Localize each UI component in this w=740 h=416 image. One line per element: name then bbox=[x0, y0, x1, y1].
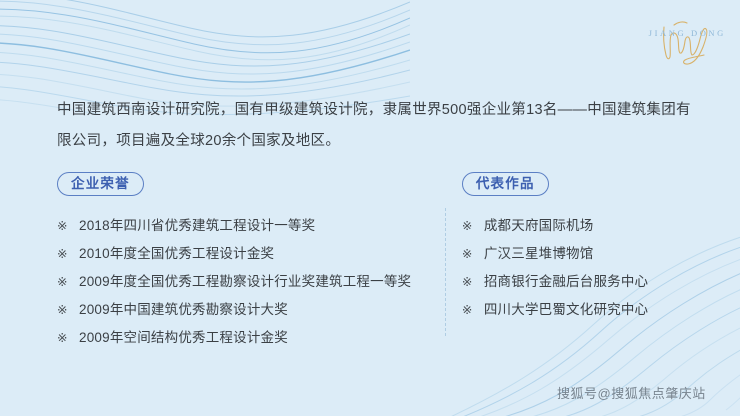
bullet-icon: ※ bbox=[57, 324, 79, 352]
bullet-icon: ※ bbox=[462, 212, 484, 240]
list-item-label: 广汉三星堆博物馆 bbox=[484, 240, 594, 268]
bullet-icon: ※ bbox=[462, 240, 484, 268]
list-item-label: 四川大学巴蜀文化研究中心 bbox=[484, 296, 648, 324]
list-item-label: 2010年度全国优秀工程设计金奖 bbox=[79, 240, 274, 268]
list-item-label: 招商银行金融后台服务中心 bbox=[484, 268, 648, 296]
slide-canvas: JIANG DONG 中国建筑西南设计研究院，国有甲级建筑设计院，隶属世界500… bbox=[0, 0, 740, 416]
list-item: ※ 2009年空间结构优秀工程设计金奖 bbox=[57, 324, 424, 352]
logo-script-monogram bbox=[654, 17, 720, 65]
list-item: ※ 2009年度全国优秀工程勘察设计行业奖建筑工程一等奖 bbox=[57, 268, 424, 296]
bullet-icon: ※ bbox=[57, 296, 79, 324]
bullet-icon: ※ bbox=[57, 212, 79, 240]
list-item-label: 2018年四川省优秀建筑工程设计一等奖 bbox=[79, 212, 315, 240]
bullet-icon: ※ bbox=[57, 268, 79, 296]
column-honors: 企业荣誉 ※ 2018年四川省优秀建筑工程设计一等奖 ※ 2010年度全国优秀工… bbox=[57, 172, 424, 352]
brand-logo: JIANG DONG bbox=[640, 18, 732, 68]
works-list: ※ 成都天府国际机场 ※ 广汉三星堆博物馆 ※ 招商银行金融后台服务中心 ※ 四… bbox=[462, 212, 697, 324]
content-columns: 企业荣誉 ※ 2018年四川省优秀建筑工程设计一等奖 ※ 2010年度全国优秀工… bbox=[57, 172, 697, 352]
company-intro-paragraph: 中国建筑西南设计研究院，国有甲级建筑设计院，隶属世界500强企业第13名——中国… bbox=[57, 95, 691, 157]
list-item: ※ 四川大学巴蜀文化研究中心 bbox=[462, 296, 697, 324]
bullet-icon: ※ bbox=[462, 268, 484, 296]
honors-list: ※ 2018年四川省优秀建筑工程设计一等奖 ※ 2010年度全国优秀工程设计金奖… bbox=[57, 212, 424, 352]
section-title-honors: 企业荣誉 bbox=[57, 172, 144, 196]
bullet-icon: ※ bbox=[57, 240, 79, 268]
list-item-label: 2009年度全国优秀工程勘察设计行业奖建筑工程一等奖 bbox=[79, 268, 411, 296]
list-item-label: 2009年中国建筑优秀勘察设计大奖 bbox=[79, 296, 288, 324]
list-item: ※ 2018年四川省优秀建筑工程设计一等奖 bbox=[57, 212, 424, 240]
bullet-icon: ※ bbox=[462, 296, 484, 324]
list-item-label: 2009年空间结构优秀工程设计金奖 bbox=[79, 324, 288, 352]
source-watermark: 搜狐号@搜狐焦点肇庆站 bbox=[557, 383, 706, 402]
list-item-label: 成都天府国际机场 bbox=[484, 212, 594, 240]
section-title-works: 代表作品 bbox=[462, 172, 549, 196]
list-item: ※ 2010年度全国优秀工程设计金奖 bbox=[57, 240, 424, 268]
list-item: ※ 招商银行金融后台服务中心 bbox=[462, 268, 697, 296]
column-works: 代表作品 ※ 成都天府国际机场 ※ 广汉三星堆博物馆 ※ 招商银行金融后台服务中… bbox=[424, 172, 697, 352]
list-item: ※ 成都天府国际机场 bbox=[462, 212, 697, 240]
logo-wordmark: JIANG DONG bbox=[640, 27, 732, 39]
list-item: ※ 广汉三星堆博物馆 bbox=[462, 240, 697, 268]
list-item: ※ 2009年中国建筑优秀勘察设计大奖 bbox=[57, 296, 424, 324]
